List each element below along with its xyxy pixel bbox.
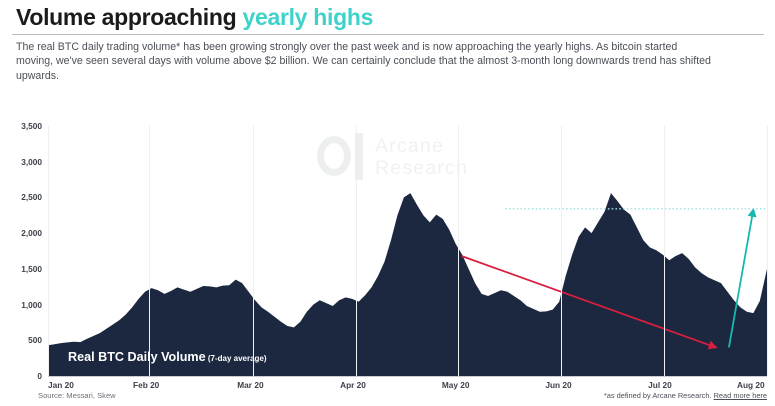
x-tick-label: Jan 20 bbox=[48, 380, 74, 390]
y-tick-label: 2,500 bbox=[2, 192, 42, 202]
source-note: Source: Messari, Skew bbox=[38, 391, 116, 400]
title-accent-text: yearly highs bbox=[242, 4, 373, 30]
definition-footnote: *as defined by Arcane Research. Read mor… bbox=[604, 391, 767, 400]
y-tick-label: 2,000 bbox=[2, 228, 42, 238]
x-axis-line bbox=[48, 376, 767, 377]
series-caption: Real BTC Daily Volume (7-day average) bbox=[68, 350, 267, 364]
header-divider bbox=[12, 34, 764, 35]
y-tick-label: 500 bbox=[2, 335, 42, 345]
volume-area-series bbox=[48, 193, 767, 376]
x-tick-label: Feb 20 bbox=[133, 380, 159, 390]
volume-area-chart bbox=[48, 126, 767, 376]
x-gridline bbox=[767, 126, 768, 376]
x-gridline bbox=[561, 126, 562, 376]
summary-paragraph: The real BTC daily trading volume* has b… bbox=[16, 40, 716, 83]
x-gridline bbox=[458, 126, 459, 376]
chart-page: Volume approaching yearly highs The real… bbox=[0, 0, 775, 406]
x-gridline bbox=[149, 126, 150, 376]
series-caption-main: Real BTC Daily Volume bbox=[68, 350, 206, 364]
x-tick-label: Apr 20 bbox=[340, 380, 366, 390]
page-title: Volume approaching yearly highs bbox=[16, 4, 373, 31]
y-tick-label: 3,500 bbox=[2, 121, 42, 131]
x-tick-label: Jul 20 bbox=[648, 380, 672, 390]
footnote-text: *as defined by Arcane Research. bbox=[604, 391, 714, 400]
series-caption-sub: (7-day average) bbox=[206, 354, 267, 363]
y-tick-label: 1,000 bbox=[2, 300, 42, 310]
x-tick-label: May 20 bbox=[442, 380, 470, 390]
read-more-link[interactable]: Read more here bbox=[714, 391, 767, 400]
x-tick-label: Aug 20 bbox=[737, 380, 765, 390]
x-tick-label: Jun 20 bbox=[545, 380, 571, 390]
chart-plot-area bbox=[48, 126, 767, 376]
x-gridline bbox=[664, 126, 665, 376]
x-tick-label: Mar 20 bbox=[237, 380, 263, 390]
x-gridline bbox=[253, 126, 254, 376]
x-gridline bbox=[48, 126, 49, 376]
title-main-text: Volume approaching bbox=[16, 4, 242, 30]
y-tick-label: 3,000 bbox=[2, 157, 42, 167]
y-tick-label: 1,500 bbox=[2, 264, 42, 274]
x-gridline bbox=[356, 126, 357, 376]
y-tick-label: 0 bbox=[2, 371, 42, 381]
